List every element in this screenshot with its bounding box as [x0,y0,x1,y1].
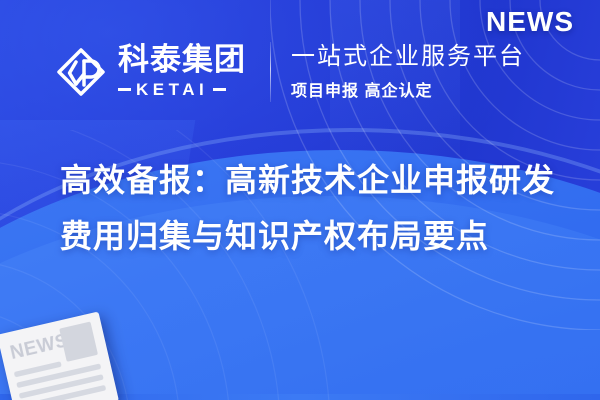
tagline-sub: 项目申报 高企认定 [291,77,525,101]
news-banner: 科泰集团 KETAI 一站式企业服务平台 项目申报 高企认定 NEWS 高效备报… [0,0,600,400]
tagline-main: 一站式企业服务平台 [291,43,525,72]
ketai-kd-monogram-icon [56,47,106,97]
header-divider [270,42,271,102]
logo-company-en: KETAI [131,80,213,100]
logo-rule-left [118,88,131,91]
logo-rule-right [213,88,226,91]
logo-company-en-row: KETAI [118,80,246,100]
article-title-line-1: 高效备报：高新技术企业申报研发 [60,152,560,208]
article-title: 高效备报：高新技术企业申报研发 费用归集与知识产权布局要点 [60,152,560,264]
banner-header: 科泰集团 KETAI 一站式企业服务平台 项目申报 高企认定 [0,34,600,110]
article-title-line-2: 费用归集与知识产权布局要点 [60,208,560,264]
logo-text-block: 科泰集团 KETAI [118,44,246,100]
news-badge: NEWS [486,6,574,38]
logo-company-cn: 科泰集团 [118,44,246,77]
tagline-block: 一站式企业服务平台 项目申报 高企认定 [291,43,525,101]
